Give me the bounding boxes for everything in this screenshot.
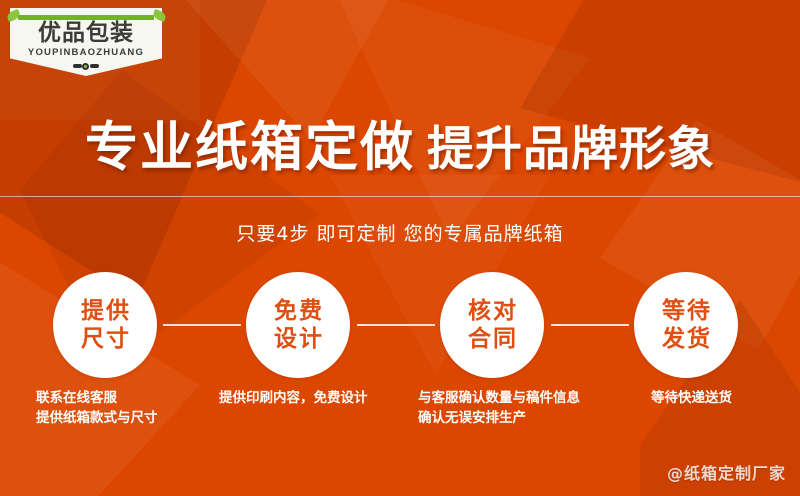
subtitle: 只要4步 即可定制 您的专属品牌纸箱 <box>0 221 800 247</box>
step-label-line1: 提供 <box>79 297 131 325</box>
promo-banner: 优品包装 YOUPINBAOZHUANG 专业纸箱定做提升品牌形象 只要4步 即… <box>0 0 800 496</box>
step-connector <box>163 324 241 326</box>
step-bubble[interactable]: 等待 发货 <box>634 272 738 378</box>
step-label-line2: 合同 <box>466 325 518 353</box>
step-item-3[interactable]: 核对 合同 <box>440 272 544 378</box>
caption-line1: 提供印刷内容，免费设计 <box>219 390 368 406</box>
step-label-line2: 设计 <box>272 325 324 353</box>
logo-name-en: YOUPINBAOZHUANG <box>10 47 162 58</box>
step-item-2[interactable]: 免费 设计 <box>246 272 350 378</box>
logo-name-cn: 优品包装 <box>10 21 162 46</box>
step-bubble[interactable]: 免费 设计 <box>246 272 350 378</box>
step-caption-4: 等待快递送货 <box>651 388 732 408</box>
caption-line1: 与客服确认数量与稿件信息 <box>418 390 580 406</box>
step-label-line1: 核对 <box>466 297 518 325</box>
headline-part-a: 专业纸箱定做 <box>85 117 415 178</box>
ornament-wing-right <box>90 64 99 68</box>
ornament-wing-left <box>73 64 82 68</box>
caption-line2: 提供纸箱款式与尺寸 <box>36 408 158 428</box>
ornament-center-dot <box>82 63 89 70</box>
caption-line1: 等待快递送货 <box>651 390 732 406</box>
step-bubble[interactable]: 提供 尺寸 <box>53 272 157 378</box>
step-label-line1: 免费 <box>272 297 324 325</box>
steps-row: 提供 尺寸 免费 设计 核对 合同 等待 发货 <box>0 272 800 382</box>
step-connector <box>357 324 435 326</box>
caption-line1: 联系在线客服 <box>36 390 117 406</box>
step-caption-1: 联系在线客服 提供纸箱款式与尺寸 <box>36 388 158 428</box>
step-label-line2: 尺寸 <box>79 325 131 353</box>
brand-logo[interactable]: 优品包装 YOUPINBAOZHUANG <box>10 8 162 76</box>
headline-part-b: 提升品牌形象 <box>427 122 715 177</box>
caption-line2: 确认无误安排生产 <box>418 408 580 428</box>
headline: 专业纸箱定做提升品牌形象 <box>0 118 800 180</box>
captions-row: 联系在线客服 提供纸箱款式与尺寸 提供印刷内容，免费设计 与客服确认数量与稿件信… <box>0 388 800 444</box>
step-caption-2: 提供印刷内容，免费设计 <box>219 388 368 408</box>
step-label-line2: 发货 <box>660 325 712 353</box>
ribbon-ornament-icon <box>73 61 99 69</box>
step-item-1[interactable]: 提供 尺寸 <box>53 272 157 378</box>
step-caption-3: 与客服确认数量与稿件信息 确认无误安排生产 <box>418 388 580 428</box>
step-connector <box>551 324 629 326</box>
step-bubble[interactable]: 核对 合同 <box>440 272 544 378</box>
horizontal-divider <box>0 196 800 197</box>
step-item-4[interactable]: 等待 发货 <box>634 272 738 378</box>
watermark: @纸箱定制厂家 <box>667 464 786 484</box>
step-label-line1: 等待 <box>660 297 712 325</box>
